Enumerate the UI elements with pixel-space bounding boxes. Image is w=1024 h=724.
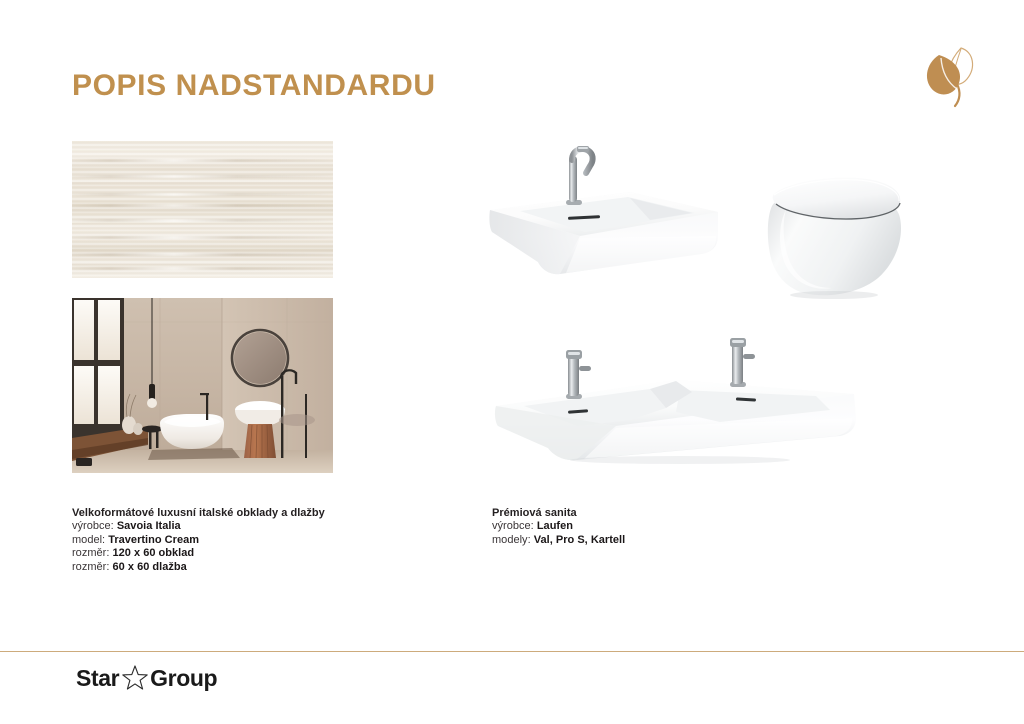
- caption-tiles-row-value: Travertino Cream: [108, 534, 199, 546]
- caption-sanitary-row-value: Val, Pro S, Kartell: [534, 534, 625, 546]
- tile-swatch-travertine: [72, 141, 333, 278]
- caption-tiles-row: rozměr: 60 x 60 dlažba: [72, 561, 402, 574]
- caption-tiles-row-value: 60 x 60 dlažba: [113, 561, 187, 573]
- star-group-logo: Star Group: [76, 663, 217, 693]
- logo-word-group: Group: [150, 667, 217, 690]
- caption-sanitary-row-value: Laufen: [537, 520, 573, 532]
- wall-hung-toilet-image: [752, 162, 932, 310]
- caption-sanitary-row-label: modely:: [492, 534, 531, 546]
- footer-divider: [0, 651, 1024, 652]
- caption-tiles: Velkoformátové luxusní italské obklady a…: [72, 507, 402, 574]
- caption-sanitary: Prémiová sanita výrobce: Laufen modely: …: [492, 507, 822, 547]
- square-washbasin-image: [480, 140, 730, 280]
- leaf-logo-icon: [914, 38, 986, 110]
- slide-page: POPIS NADSTANDARDU: [0, 0, 1024, 724]
- star-outline-icon: [120, 663, 150, 693]
- caption-tiles-row-label: výrobce:: [72, 520, 114, 532]
- caption-tiles-row-label: rozměr:: [72, 561, 109, 573]
- caption-tiles-row: výrobce: Savoia Italia: [72, 520, 402, 533]
- double-washbasin-image: [480, 332, 872, 472]
- caption-tiles-row: model: Travertino Cream: [72, 534, 402, 547]
- caption-tiles-row-label: model:: [72, 534, 105, 546]
- caption-sanitary-row-label: výrobce:: [492, 520, 534, 532]
- caption-tiles-row-label: rozměr:: [72, 547, 109, 559]
- caption-tiles-row: rozměr: 120 x 60 obklad: [72, 547, 402, 560]
- caption-tiles-heading: Velkoformátové luxusní italské obklady a…: [72, 507, 402, 520]
- caption-sanitary-row: výrobce: Laufen: [492, 520, 822, 533]
- page-title: POPIS NADSTANDARDU: [72, 66, 436, 106]
- caption-sanitary-row: modely: Val, Pro S, Kartell: [492, 534, 822, 547]
- bathroom-interior-photo: [72, 298, 333, 473]
- logo-word-star: Star: [76, 667, 119, 690]
- caption-tiles-row-value: 120 x 60 obklad: [113, 547, 195, 559]
- caption-tiles-row-value: Savoia Italia: [117, 520, 181, 532]
- caption-sanitary-heading: Prémiová sanita: [492, 507, 822, 520]
